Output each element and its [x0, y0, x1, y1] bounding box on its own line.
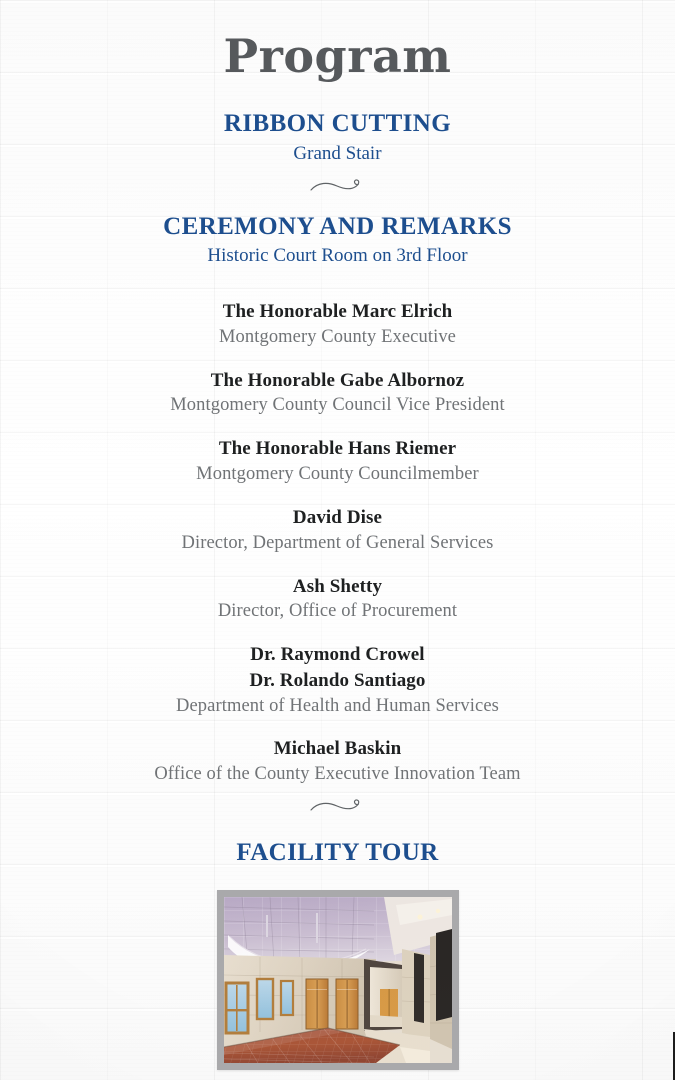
speaker-role: Montgomery County Executive [154, 325, 520, 350]
list-item: Ash Shetty Director, Office of Procureme… [154, 574, 520, 625]
section-subheading-ribbon-cutting: Grand Stair [224, 142, 451, 167]
facility-photo-frame [217, 890, 459, 1070]
building-lobby-rendering-image [224, 897, 452, 1063]
speaker-role: Department of Health and Human Services [154, 694, 520, 719]
speaker-list: The Honorable Marc Elrich Montgomery Cou… [154, 281, 520, 787]
section-ceremony-and-remarks: CEREMONY AND REMARKS Historic Court Room… [163, 213, 512, 269]
section-heading-ribbon-cutting: RIBBON CUTTING [224, 110, 451, 139]
speaker-role: Montgomery County Council Vice President [154, 393, 520, 418]
speaker-role: Director, Office of Procurement [154, 599, 520, 624]
list-item: The Honorable Marc Elrich Montgomery Cou… [154, 299, 520, 350]
section-heading-facility-tour: FACILITY TOUR [236, 839, 438, 868]
list-item: David Dise Director, Department of Gener… [154, 505, 520, 556]
section-ribbon-cutting: RIBBON CUTTING Grand Stair [224, 110, 451, 166]
speaker-name: The Honorable Marc Elrich [154, 299, 520, 325]
speaker-name: Dr. Raymond Crowel [154, 642, 520, 668]
speaker-role: Montgomery County Councilmember [154, 462, 520, 487]
speaker-name: Ash Shetty [154, 574, 520, 600]
speaker-name: The Honorable Gabe Albornoz [154, 368, 520, 394]
speaker-role: Office of the County Executive Innovatio… [154, 762, 520, 787]
list-item: The Honorable Hans Riemer Montgomery Cou… [154, 436, 520, 487]
list-item: The Honorable Gabe Albornoz Montgomery C… [154, 368, 520, 419]
list-item: Michael Baskin Office of the County Exec… [154, 736, 520, 787]
speaker-name: Michael Baskin [154, 736, 520, 762]
flourish-swirl-divider-icon [306, 177, 370, 199]
speaker-name: David Dise [154, 505, 520, 531]
program-page: Program RIBBON CUTTING Grand Stair CEREM… [0, 0, 675, 1080]
section-subheading-ceremony: Historic Court Room on 3rd Floor [163, 244, 512, 269]
list-item: Dr. Raymond Crowel Dr. Rolando Santiago … [154, 642, 520, 718]
speaker-name: The Honorable Hans Riemer [154, 436, 520, 462]
speaker-role: Director, Department of General Services [154, 531, 520, 556]
flourish-swirl-divider-icon [306, 797, 370, 819]
page-title: Program [224, 32, 452, 80]
section-heading-ceremony: CEREMONY AND REMARKS [163, 213, 512, 242]
section-facility-tour: FACILITY TOUR [236, 839, 438, 868]
speaker-name: Dr. Rolando Santiago [154, 668, 520, 694]
